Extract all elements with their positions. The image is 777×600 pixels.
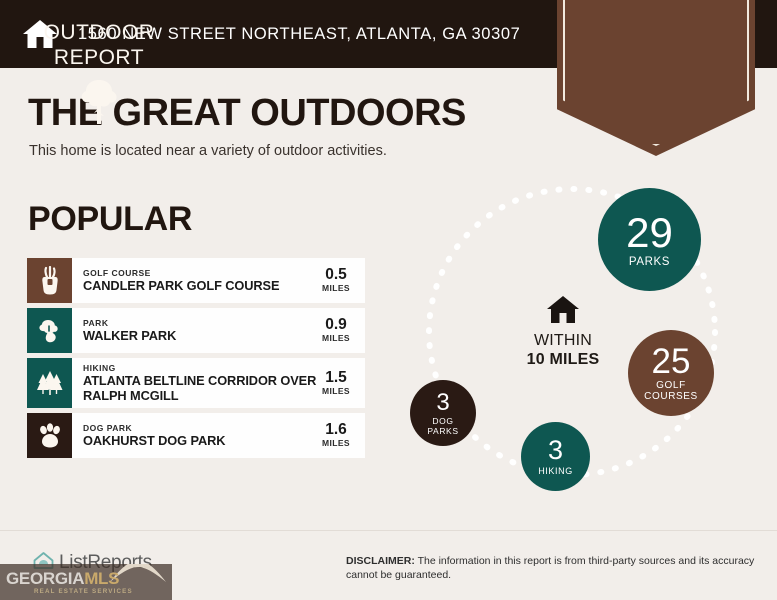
chart-center-line1: WITHIN [498, 331, 628, 350]
list-item[interactable]: PARK WALKER PARK 0.9 MILES [27, 308, 365, 353]
list-item-name: OAKHURST DOG PARK [83, 434, 318, 449]
bubble-hiking-label: HIKING [538, 466, 573, 476]
page-subtitle: This home is located near a variety of o… [29, 143, 387, 159]
popular-list: GOLF COURSE CANDLER PARK GOLF COURSE 0.5… [27, 258, 365, 463]
bubble-dogparks-label-line2: PARKS [427, 426, 458, 436]
list-item-name: ATLANTA BELTLINE CORRIDOR OVER RALPH MCG… [83, 374, 318, 403]
list-item[interactable]: DOG PARK OAKHURST DOG PARK 1.6 MILES [27, 413, 365, 458]
chart-center-line2: 10 MILES [498, 350, 628, 369]
outdoor-report-page: 1560 NEW STREET NORTHEAST, ATLANTA, GA 3… [0, 0, 777, 600]
badge-title-line2: REPORT [0, 45, 198, 70]
bubble-golf-value: 25 [652, 344, 691, 379]
list-item-body: GOLF COURSE CANDLER PARK GOLF COURSE 0.5… [72, 258, 365, 303]
georgia-mls-wordmark: GEORGIAMLS [6, 569, 119, 589]
paw-print-icon [27, 413, 72, 458]
list-item-distance-value: 0.9 [322, 317, 350, 333]
tree-icon [0, 78, 198, 126]
georgia-mls-part1: GEORGIA [6, 569, 84, 588]
georgia-mls-part2: MLS [84, 569, 119, 588]
outdoor-report-badge [557, 0, 755, 156]
list-item-distance-value: 1.5 [322, 370, 350, 386]
bubble-hiking: 3 HIKING [521, 422, 590, 491]
bubble-parks-label: PARKS [629, 256, 670, 268]
georgia-mls-watermark: GEORGIAMLS REAL ESTATE SERVICES [0, 564, 172, 600]
list-item-distance-unit: MILES [322, 438, 350, 449]
golf-bag-icon [27, 258, 72, 303]
disclaimer-label: DISCLAIMER: [346, 555, 415, 567]
list-item-texts: HIKING ATLANTA BELTLINE CORRIDOR OVER RA… [83, 363, 318, 403]
list-item-distance: 0.9 MILES [318, 317, 359, 344]
badge-title: OUTDOOR REPORT [0, 20, 198, 70]
bubble-dogparks-label-line1: DOG [432, 416, 453, 426]
bubble-chart: 29 PARKS 25 GOLF COURSES 3 HIKING 3 DOG … [400, 170, 777, 525]
bubble-dog-parks: 3 DOG PARKS [410, 380, 476, 446]
list-item-distance: 0.5 MILES [318, 267, 359, 294]
bubble-parks-value: 29 [626, 212, 673, 254]
badge-title-line1: OUTDOOR [0, 20, 198, 45]
list-item-distance-value: 0.5 [322, 267, 350, 283]
bubble-parks: 29 PARKS [598, 188, 701, 291]
list-item[interactable]: HIKING ATLANTA BELTLINE CORRIDOR OVER RA… [27, 358, 365, 408]
bubble-golf-label-line1: GOLF [656, 380, 686, 392]
list-item-name: CANDLER PARK GOLF COURSE [83, 279, 318, 294]
list-item-texts: PARK WALKER PARK [83, 318, 318, 344]
popular-heading: POPULAR [28, 200, 192, 239]
chart-center: WITHIN 10 MILES [498, 295, 628, 369]
disclaimer: DISCLAIMER: The information in this repo… [346, 554, 766, 582]
list-item-body: PARK WALKER PARK 0.9 MILES [72, 308, 365, 353]
list-item-distance: 1.6 MILES [318, 422, 359, 449]
badge-inner-border [563, 0, 749, 146]
home-icon [498, 295, 628, 325]
list-item-body: HIKING ATLANTA BELTLINE CORRIDOR OVER RA… [72, 358, 365, 408]
park-tree-icon [27, 308, 72, 353]
list-item-texts: DOG PARK OAKHURST DOG PARK [83, 423, 318, 449]
list-item[interactable]: GOLF COURSE CANDLER PARK GOLF COURSE 0.5… [27, 258, 365, 303]
list-item-distance-unit: MILES [322, 283, 350, 294]
bubble-hiking-value: 3 [548, 437, 563, 464]
list-item-body: DOG PARK OAKHURST DOG PARK 1.6 MILES [72, 413, 365, 458]
list-item-distance: 1.5 MILES [318, 370, 359, 397]
pine-trees-icon [27, 358, 72, 408]
list-item-distance-value: 1.6 [322, 422, 350, 438]
bubble-dogparks-value: 3 [436, 391, 449, 415]
bubble-golf-label-line2: COURSES [644, 391, 698, 403]
list-item-distance-unit: MILES [322, 386, 350, 397]
bubble-golf-courses: 25 GOLF COURSES [628, 330, 714, 416]
list-item-distance-unit: MILES [322, 333, 350, 344]
list-item-texts: GOLF COURSE CANDLER PARK GOLF COURSE [83, 268, 318, 294]
list-item-name: WALKER PARK [83, 329, 318, 344]
footer-divider [0, 530, 777, 531]
georgia-mls-tagline: REAL ESTATE SERVICES [34, 588, 133, 595]
